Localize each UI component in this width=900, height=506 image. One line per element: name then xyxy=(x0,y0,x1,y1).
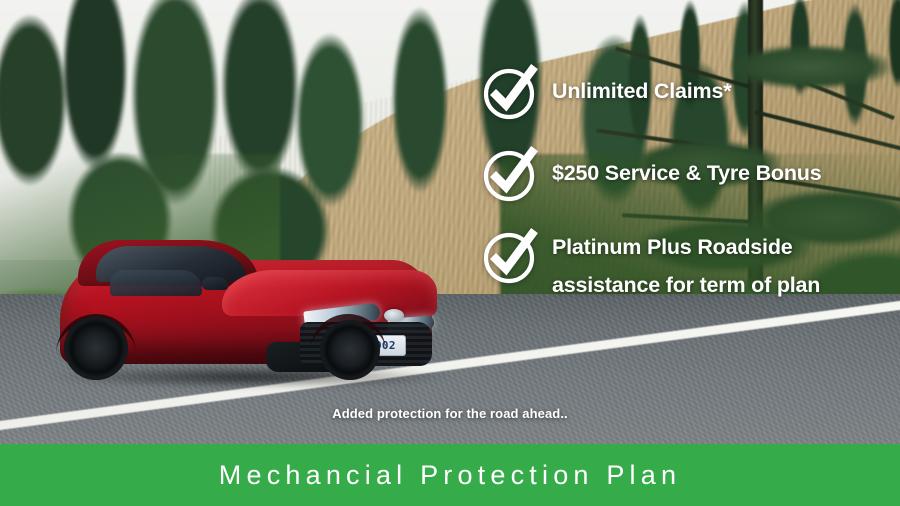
banner-title: Mechancial Protection Plan xyxy=(219,460,681,491)
side-window xyxy=(110,270,202,296)
benefit-item: $250 Service & Tyre Bonus xyxy=(480,144,890,204)
tagline: Added protection for the road ahead.. xyxy=(0,406,900,421)
benefit-label: $250 Service & Tyre Bonus xyxy=(552,144,821,192)
benefit-label: Platinum Plus Roadside assistance for te… xyxy=(552,226,820,304)
wheel-front xyxy=(64,316,128,380)
check-circle-icon xyxy=(480,226,540,286)
promo-banner-stage: GAZ002 Unlimited Claims* xyxy=(0,0,900,506)
footer-banner: Mechancial Protection Plan xyxy=(0,444,900,506)
check-circle-icon xyxy=(480,62,540,122)
benefits-list: Unlimited Claims* $250 Service & Tyre Bo… xyxy=(480,62,890,304)
benefit-item: Unlimited Claims* xyxy=(480,62,890,122)
side-mirror xyxy=(202,277,228,290)
car-toyota-gr-corolla: GAZ002 xyxy=(52,222,452,382)
wheel-rear xyxy=(320,320,380,380)
benefit-label: Unlimited Claims* xyxy=(552,62,731,110)
check-circle-icon xyxy=(480,144,540,204)
benefit-item: Platinum Plus Roadside assistance for te… xyxy=(480,226,890,304)
toyota-emblem-icon xyxy=(384,309,404,322)
